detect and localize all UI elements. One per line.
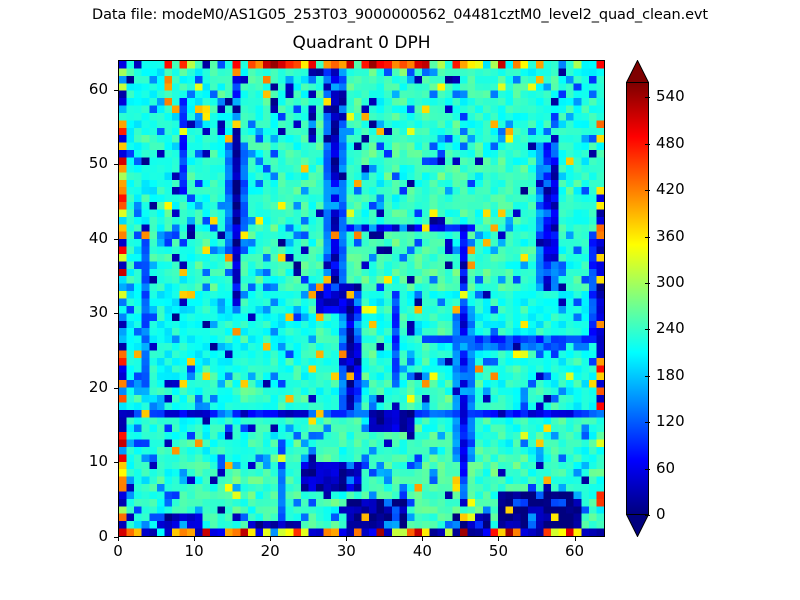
- colorbar-tick-mark: [645, 283, 650, 284]
- x-tick-mark: [270, 537, 271, 541]
- x-tick-label: 20: [240, 543, 300, 560]
- colorbar-tick-mark: [645, 97, 650, 98]
- y-tick-label: 10: [48, 453, 108, 470]
- y-tick-label: 20: [48, 379, 108, 396]
- colorbar-tick-label: 120: [656, 413, 685, 430]
- colorbar-extend-down-arrow: [626, 514, 649, 537]
- x-tick-label: 40: [392, 543, 452, 560]
- colorbar-tick-label: 480: [656, 135, 685, 152]
- y-tick-mark: [114, 164, 118, 165]
- y-tick-label: 60: [48, 81, 108, 98]
- x-tick-mark: [575, 537, 576, 541]
- y-tick-label: 0: [48, 528, 108, 545]
- y-tick-mark: [114, 239, 118, 240]
- colorbar-tick-mark: [645, 376, 650, 377]
- colorbar-tick-mark: [645, 237, 650, 238]
- y-tick-mark: [114, 388, 118, 389]
- x-tick-mark: [346, 537, 347, 541]
- y-tick-label: 50: [48, 155, 108, 172]
- heatmap-axes[interactable]: [118, 60, 605, 537]
- x-tick-mark: [422, 537, 423, 541]
- colorbar-extend-up-arrow: [626, 60, 649, 83]
- x-tick-label: 10: [164, 543, 224, 560]
- y-tick-mark: [114, 462, 118, 463]
- colorbar-tick-label: 240: [656, 320, 685, 337]
- figure-suptitle: Data file: modeM0/AS1G05_253T03_90000005…: [0, 6, 800, 24]
- colorbar-tick-label: 180: [656, 367, 685, 384]
- y-tick-mark: [114, 537, 118, 538]
- x-tick-label: 50: [468, 543, 528, 560]
- colorbar-tick-label: 60: [656, 460, 675, 477]
- colorbar-tick-mark: [645, 422, 650, 423]
- x-tick-label: 60: [545, 543, 605, 560]
- colorbar-tick-label: 360: [656, 228, 685, 245]
- colorbar-tick-label: 540: [656, 88, 685, 105]
- colorbar-tick-mark: [645, 469, 650, 470]
- heatmap-image: [119, 61, 604, 536]
- x-tick-mark: [498, 537, 499, 541]
- figure-canvas: Data file: modeM0/AS1G05_253T03_90000005…: [0, 0, 800, 600]
- x-tick-label: 30: [316, 543, 376, 560]
- y-tick-label: 40: [48, 230, 108, 247]
- colorbar-tick-mark: [645, 190, 650, 191]
- y-tick-mark: [114, 313, 118, 314]
- y-tick-label: 30: [48, 304, 108, 321]
- x-tick-mark: [118, 537, 119, 541]
- colorbar-tick-mark: [645, 515, 650, 516]
- colorbar[interactable]: 060120180240300360420480540: [626, 60, 649, 537]
- axes-title: Quadrant 0 DPH: [118, 33, 605, 54]
- colorbar-gradient-body: [626, 82, 649, 515]
- colorbar-tick-label: 420: [656, 181, 685, 198]
- colorbar-tick-label: 0: [656, 506, 666, 523]
- x-tick-mark: [194, 537, 195, 541]
- x-tick-label: 0: [88, 543, 148, 560]
- y-tick-mark: [114, 90, 118, 91]
- colorbar-tick-mark: [645, 144, 650, 145]
- colorbar-tick-mark: [645, 329, 650, 330]
- colorbar-tick-label: 300: [656, 274, 685, 291]
